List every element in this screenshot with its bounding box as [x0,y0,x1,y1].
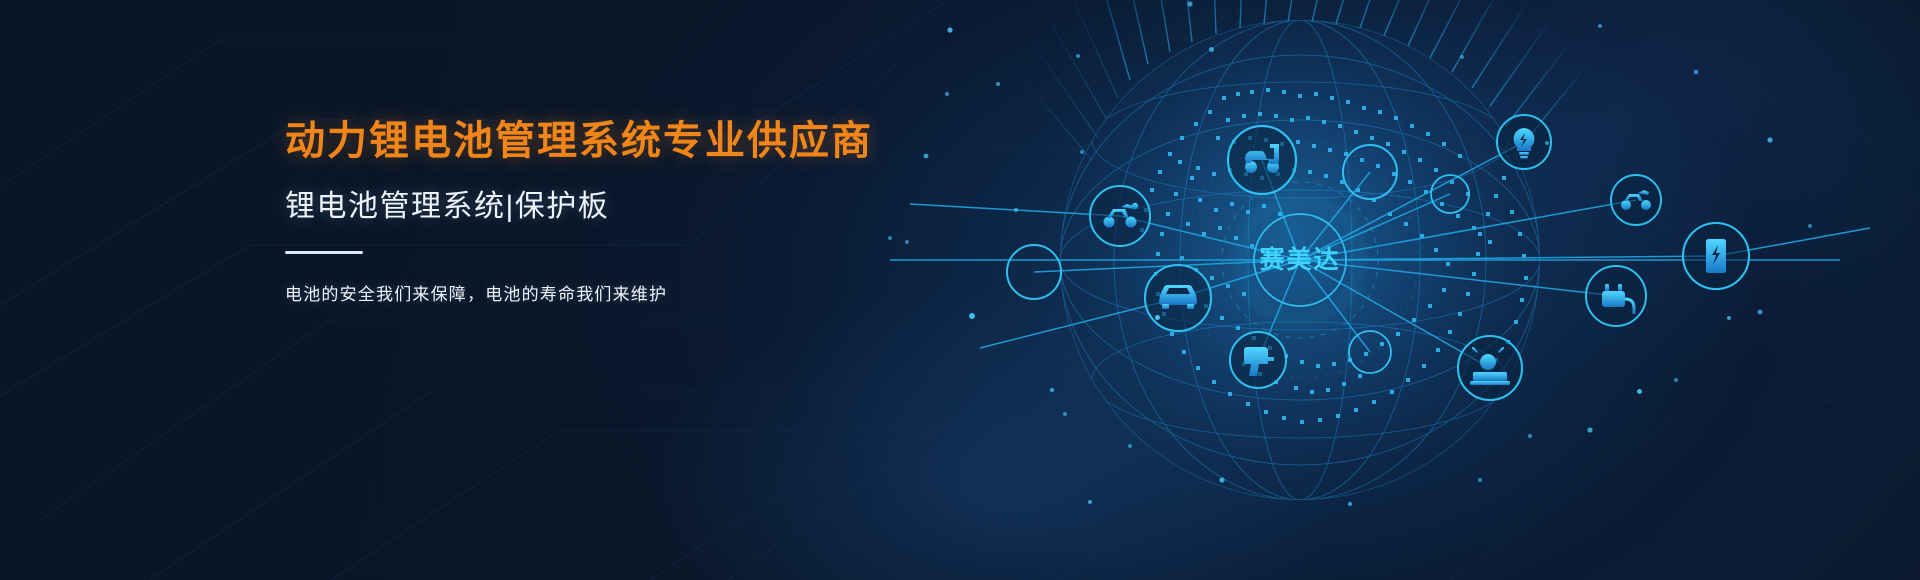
node-scooter-icon [1228,126,1296,194]
banner-copy: 动力锂电池管理系统专业供应商 锂电池管理系统|保护板 电池的安全我们来保障，电池… [285,118,1045,305]
node-empty-node-icon [1007,145,1469,373]
page-subtitle: 锂电池管理系统|保护板 [285,189,1045,225]
globe-dot-map [1140,88,1528,424]
globe-rays [1012,0,1588,160]
divider [285,251,363,254]
page-tagline: 电池的安全我们来保障，电池的寿命我们来维护 [285,280,1045,305]
node-bicycle-icon [1090,186,1150,246]
page-title: 动力锂电池管理系统专业供应商 [285,118,1045,165]
node-desk-lamp-icon [1458,336,1522,400]
globe-body [1060,20,1540,500]
node-plug-icon [1586,266,1646,326]
globe-center-label: 赛美达 [1258,245,1340,274]
node-light-bulb-icon [1497,115,1551,169]
node-car-icon [1145,265,1211,331]
node-battery-phone-icon [1683,223,1749,289]
hub-rings [1140,100,1460,420]
globe-haze [980,0,1620,580]
globe-wireframe [1060,20,1540,500]
node-power-drill-icon [1230,332,1286,388]
node-motorbike-icon [1611,175,1661,225]
background-glow-bottom-left [640,280,1340,580]
hero-banner: 动力锂电池管理系统专业供应商 锂电池管理系统|保护板 电池的安全我们来保障，电池… [0,0,1920,580]
background-glow-top-right [1240,0,1920,380]
